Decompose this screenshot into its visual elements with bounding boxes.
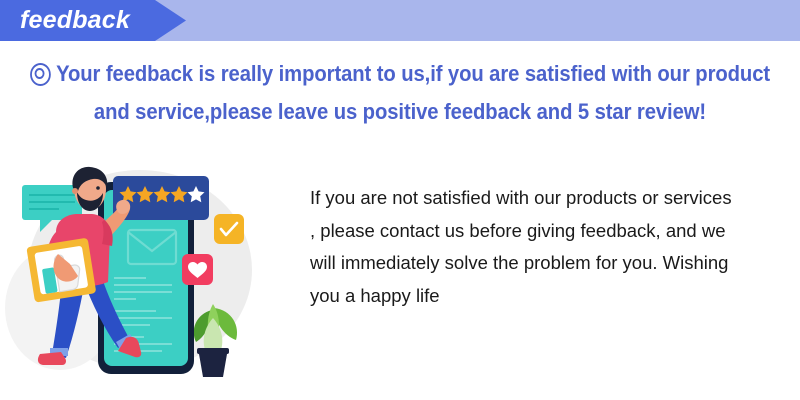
body-line-3: will immediately solve the problem for y… [310, 247, 790, 280]
headline-line-2: and service,please leave us positive fee… [40, 93, 760, 131]
headline-line-1: Your feedback is really important to us,… [40, 55, 760, 93]
shoe-left [38, 352, 66, 365]
banner-title: feedback [20, 0, 130, 41]
body-paragraph: If you are not satisfied with our produc… [310, 182, 790, 312]
double-ring-icon [30, 63, 51, 86]
body-line-2: , please contact us before giving feedba… [310, 215, 790, 248]
customer-feedback-illustration [0, 158, 290, 384]
eye [96, 186, 100, 190]
body-line-4: you a happy life [310, 280, 790, 313]
check-badge [214, 214, 244, 244]
heart-badge [182, 254, 213, 285]
feedback-banner: feedback [0, 0, 800, 41]
body-line-1: If you are not satisfied with our produc… [310, 182, 790, 215]
headline-line-1-text: Your feedback is really important to us,… [56, 55, 770, 93]
headline-block: Your feedback is really important to us,… [0, 55, 800, 131]
